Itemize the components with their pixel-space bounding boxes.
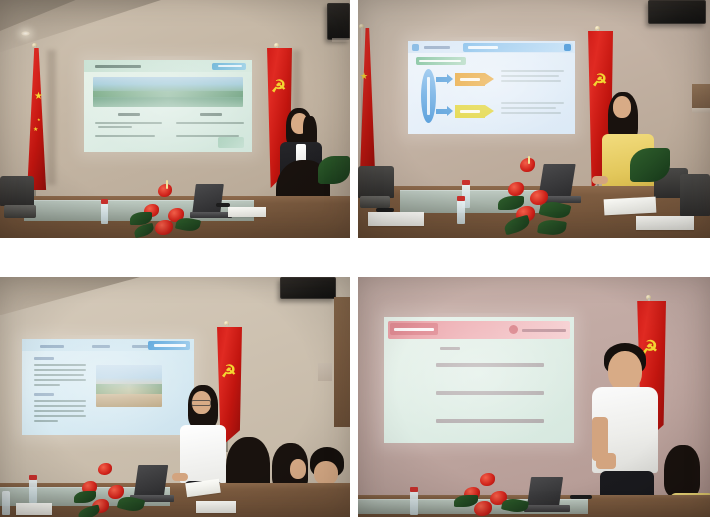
slide-bullet [436, 419, 544, 423]
slide-footer-logo [218, 137, 244, 148]
conference-room-scene-3: ☭ [0, 277, 350, 517]
head [290, 459, 306, 479]
slide-body-line [34, 405, 86, 407]
flowchart-arrow-down-tip [447, 106, 453, 116]
photo-panel-top-right: ★ ☭ [358, 0, 710, 238]
slide-content [408, 41, 575, 134]
flowchart-branch-orange-label [460, 78, 480, 81]
slide-header-page-icon [509, 325, 518, 334]
slide-body-line [34, 415, 86, 417]
hammer-sickle-icon: ☭ [221, 363, 236, 380]
microphone [570, 495, 592, 499]
chair-armrest [4, 205, 36, 218]
wall-wood-door [334, 297, 350, 427]
slide-tab-text [218, 65, 242, 67]
slide-header-tab [92, 345, 110, 348]
printed-documents [368, 212, 424, 226]
water-bottle [2, 491, 10, 515]
office-chair [0, 176, 34, 206]
slide-tab-text [468, 46, 498, 49]
slide-bullet [436, 363, 544, 367]
slide-bullet [98, 126, 132, 128]
slide-badge-text [154, 344, 186, 347]
flowchart-branch-orange-tip [485, 73, 494, 85]
hammer-sickle-icon: ☭ [592, 72, 607, 89]
wall-wood-panel [692, 84, 710, 108]
wall-speaker [280, 277, 336, 299]
slide-body-line [34, 410, 84, 412]
projection-screen [384, 317, 574, 443]
slide-section-text [419, 60, 461, 62]
slide-body-line [34, 369, 86, 371]
slide-header-title [95, 65, 141, 68]
hands [596, 453, 616, 469]
slide-body-line [34, 379, 86, 381]
office-chair [680, 174, 710, 216]
flowchart-branch-yellow-tip [485, 105, 494, 117]
bottle-cap [101, 199, 108, 204]
conference-room-scene-4: ☭ [358, 277, 710, 517]
water-bottle [101, 203, 108, 224]
ceiling-downlight-icon [21, 31, 30, 36]
microphone [216, 203, 230, 207]
potted-plant [318, 156, 350, 184]
slide-body-line [34, 420, 58, 422]
slide-photo [93, 77, 243, 107]
bottle-cap [410, 487, 418, 492]
printed-papers [196, 501, 236, 513]
flower-arrangement [74, 463, 150, 517]
slide-body-line [34, 374, 84, 376]
wall-speaker [327, 3, 350, 40]
hand [592, 176, 608, 184]
slide-body-heading [440, 347, 460, 350]
water-bottle [410, 491, 418, 515]
flowchart-detail-line [501, 107, 556, 109]
flowchart-detail-line [501, 70, 564, 72]
notebook [636, 216, 694, 230]
wall-notice [318, 363, 332, 381]
flag-star-icon: ★ [34, 92, 43, 102]
photo-panel-bottom-left: ☭ [0, 277, 350, 517]
microphone [376, 208, 394, 212]
projection-screen [84, 60, 252, 152]
flowchart-arrow-up [436, 77, 447, 82]
chair-armrest [360, 196, 390, 208]
slide-bullet [436, 391, 544, 395]
photo-panel-bottom-right: ☭ [358, 277, 710, 517]
flowchart-center-label [427, 77, 430, 115]
flowchart-detail-line [501, 112, 561, 114]
slide-body-line [34, 400, 86, 402]
flag-star-icon: ★ [360, 72, 368, 81]
wall-trim [692, 108, 710, 113]
flag-star-icon: ★ [33, 127, 38, 133]
notebook [228, 207, 266, 217]
slide-section-heading [34, 357, 54, 360]
slide-photo [96, 365, 162, 407]
photo-collage: ★ ★ ★ ☭ [0, 0, 710, 517]
flowchart-branch-yellow-label [460, 110, 480, 113]
water-bottle [457, 200, 465, 224]
slide-content [84, 60, 252, 152]
flower-arrangement [128, 178, 208, 238]
wall-speaker [648, 0, 706, 24]
flag-star-icon: ★ [37, 118, 41, 122]
slide-header-icon [412, 44, 419, 51]
potted-plant [630, 148, 670, 182]
flowchart-arrow-down [436, 109, 447, 114]
slide-header-tab [40, 345, 64, 348]
slide-bullet [95, 135, 155, 137]
projection-screen [408, 41, 575, 134]
slide-column-heading [118, 113, 140, 116]
flowchart-detail-line [501, 80, 561, 82]
printed-documents [604, 197, 657, 216]
slide-body-line [34, 364, 86, 366]
slide-header-title [394, 328, 434, 331]
flowchart-detail-line [501, 102, 564, 104]
projection-screen [22, 339, 194, 435]
slide-bullet [95, 122, 162, 124]
hair [664, 445, 700, 497]
slide-header-page-note [522, 329, 566, 332]
slide-content [384, 317, 574, 443]
slide-section-heading [34, 393, 54, 396]
conference-room-scene-1: ★ ★ ★ ☭ [0, 0, 350, 238]
bottle-cap [29, 475, 37, 480]
hammer-sickle-icon: ☭ [271, 78, 286, 95]
head [608, 351, 642, 391]
wall-trim [332, 38, 350, 42]
slide-bullet [176, 122, 244, 124]
presenter-person [586, 343, 672, 517]
slide-body-line [34, 384, 60, 386]
slide-column-heading [200, 113, 222, 116]
slide-header-title [424, 46, 450, 49]
office-chair [358, 166, 394, 198]
conference-room-scene-2: ★ ☭ [358, 0, 710, 238]
head [613, 96, 631, 118]
bottle-cap [457, 196, 465, 201]
bottle-cap [462, 180, 470, 185]
water-bottle [29, 479, 37, 503]
flowchart-arrow-up-tip [447, 74, 453, 84]
printed-papers [16, 503, 52, 515]
head [314, 461, 338, 485]
slide-corner-icon [564, 44, 571, 51]
flower-arrangement [498, 156, 588, 238]
photo-panel-top-left: ★ ★ ★ ☭ [0, 0, 350, 238]
flower-arrangement [454, 473, 534, 517]
flowchart-detail-line [501, 75, 559, 77]
slide-content [22, 339, 194, 435]
glasses-icon [191, 400, 211, 406]
